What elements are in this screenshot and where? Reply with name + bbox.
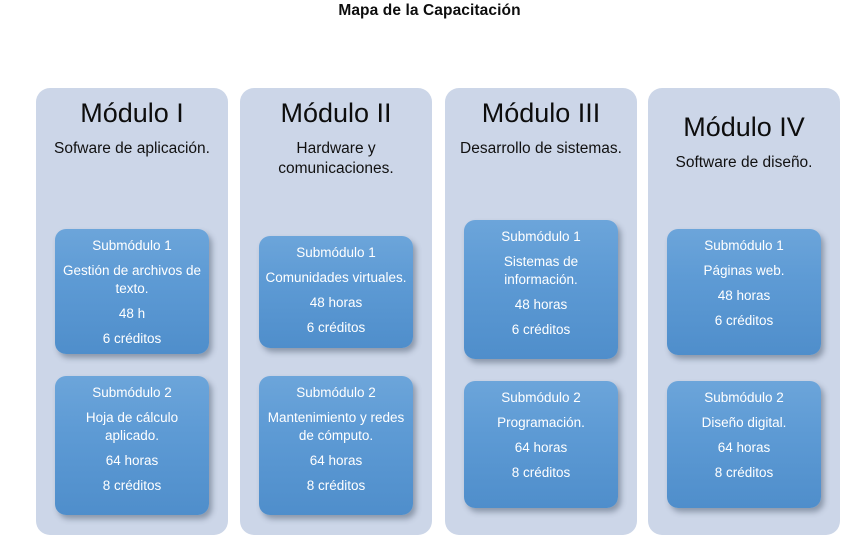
- submodule-label: Submódulo 1: [265, 244, 407, 262]
- submodule-credits: 8 créditos: [61, 477, 203, 495]
- submodule-hours: 48 h: [61, 305, 203, 323]
- submodule-credits: 6 créditos: [470, 321, 612, 339]
- submodule-name: Sistemas de información.: [470, 253, 612, 289]
- submodule-hours: 48 horas: [673, 287, 815, 305]
- submodule-list-3: Submódulo 1 Sistemas de información. 48 …: [445, 88, 637, 535]
- submodule-name: Hoja de cálculo aplicado.: [61, 409, 203, 445]
- submodule-credits: 8 créditos: [673, 464, 815, 482]
- submodule-card[interactable]: Submódulo 2 Diseño digital. 64 horas 8 c…: [667, 381, 821, 508]
- submodule-hours: 48 horas: [265, 294, 407, 312]
- submodule-list-1: Submódulo 1 Gestión de archivos de texto…: [36, 88, 228, 535]
- submodule-card[interactable]: Submódulo 2 Hoja de cálculo aplicado. 64…: [55, 376, 209, 515]
- submodule-name: Programación.: [470, 414, 612, 432]
- submodule-hours: 64 horas: [470, 439, 612, 457]
- submodule-credits: 8 créditos: [265, 477, 407, 495]
- submodule-hours: 48 horas: [470, 296, 612, 314]
- submodule-label: Submódulo 2: [265, 384, 407, 402]
- submodule-name: Gestión de archivos de texto.: [61, 262, 203, 298]
- module-columns: Módulo I Sofware de aplicación. Submódul…: [0, 88, 859, 538]
- submodule-credits: 6 créditos: [265, 319, 407, 337]
- submodule-hours: 64 horas: [61, 452, 203, 470]
- submodule-credits: 6 créditos: [61, 330, 203, 348]
- submodule-name: Páginas web.: [673, 262, 815, 280]
- submodule-list-2: Submódulo 1 Comunidades virtuales. 48 ho…: [240, 88, 432, 535]
- module-panel-2: Módulo II Hardware y comunicaciones. Sub…: [240, 88, 432, 535]
- submodule-label: Submódulo 2: [470, 389, 612, 407]
- submodule-credits: 6 créditos: [673, 312, 815, 330]
- submodule-card[interactable]: Submódulo 1 Comunidades virtuales. 48 ho…: [259, 236, 413, 348]
- submodule-list-4: Submódulo 1 Páginas web. 48 horas 6 créd…: [648, 88, 840, 535]
- module-panel-1: Módulo I Sofware de aplicación. Submódul…: [36, 88, 228, 535]
- module-panel-4: Módulo IV Software de diseño. Submódulo …: [648, 88, 840, 535]
- submodule-label: Submódulo 1: [470, 228, 612, 246]
- module-panel-3: Módulo III Desarrollo de sistemas. Submó…: [445, 88, 637, 535]
- page-title: Mapa de la Capacitación: [0, 2, 859, 20]
- submodule-name: Diseño digital.: [673, 414, 815, 432]
- submodule-credits: 8 créditos: [470, 464, 612, 482]
- submodule-card[interactable]: Submódulo 1 Sistemas de información. 48 …: [464, 220, 618, 359]
- submodule-label: Submódulo 2: [61, 384, 203, 402]
- submodule-label: Submódulo 2: [673, 389, 815, 407]
- submodule-card[interactable]: Submódulo 2 Mantenimiento y redes de cóm…: [259, 376, 413, 515]
- submodule-hours: 64 horas: [673, 439, 815, 457]
- submodule-hours: 64 horas: [265, 452, 407, 470]
- submodule-label: Submódulo 1: [673, 237, 815, 255]
- submodule-card[interactable]: Submódulo 2 Programación. 64 horas 8 cré…: [464, 381, 618, 508]
- submodule-name: Comunidades virtuales.: [265, 269, 407, 287]
- submodule-name: Mantenimiento y redes de cómputo.: [265, 409, 407, 445]
- submodule-label: Submódulo 1: [61, 237, 203, 255]
- submodule-card[interactable]: Submódulo 1 Gestión de archivos de texto…: [55, 229, 209, 354]
- submodule-card[interactable]: Submódulo 1 Páginas web. 48 horas 6 créd…: [667, 229, 821, 355]
